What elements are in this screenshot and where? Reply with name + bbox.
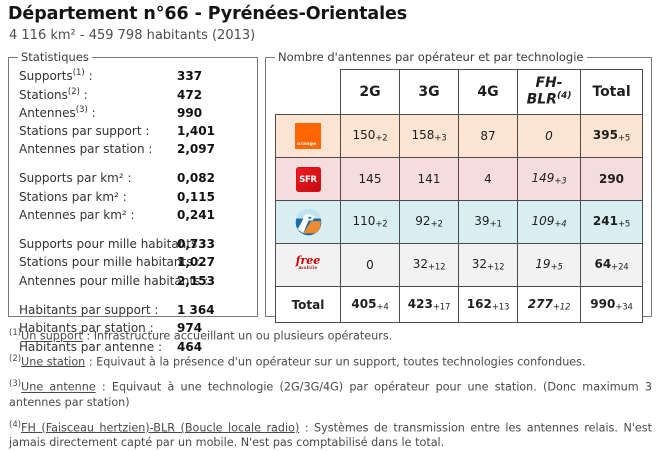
cell-free-fh: 19+5 <box>518 244 581 287</box>
stat-value: 990 <box>177 106 202 120</box>
statistics-panel: Statistiques Supports(1) :337Stations(2)… <box>8 57 258 317</box>
antenna-table: 2G3G4GFH-BLR(4)Total 150+2158+3870395+5S… <box>275 69 643 323</box>
stat-label: Supports pour mille habitants : <box>19 237 177 251</box>
cell-orange-total: 395+5 <box>581 115 643 158</box>
stat-label: Habitants par support : <box>19 303 177 317</box>
table-header-row: 2G3G4GFH-BLR(4)Total <box>276 70 643 115</box>
footnote: (3)Une antenne : Equivaut à une technolo… <box>9 377 652 410</box>
cell-total-4g: 162+13 <box>459 287 518 323</box>
stat-value: 0,241 <box>177 208 215 222</box>
table-row: SFR1451414149+3290 <box>276 158 643 201</box>
stat-spacer <box>19 161 247 171</box>
cell-delta: +4 <box>376 302 388 312</box>
cell-delta: +13 <box>492 302 509 312</box>
column-header-3g: 3G <box>400 70 459 115</box>
stat-value: 0,082 <box>177 171 215 185</box>
cell-free-total: 64+24 <box>581 244 643 287</box>
stat-label: Stations par km² : <box>19 190 177 204</box>
stat-label: Stations par support : <box>19 124 177 138</box>
cell-orange-fh: 0 <box>518 115 581 158</box>
operator-cell-orange <box>276 115 341 158</box>
orange-logo-icon <box>295 123 321 149</box>
stat-row: Stations par support :1,401 <box>19 124 247 143</box>
cell-delta: +5 <box>551 263 563 273</box>
stat-value: 1 364 <box>177 303 215 317</box>
cell-bouygues-fh: 109+4 <box>518 201 581 244</box>
stat-spacer <box>19 293 247 303</box>
sfr-logo-icon: SFR <box>296 167 321 192</box>
sfr-logo-text: SFR <box>299 174 317 184</box>
cell-bouygues-3g: 92+2 <box>400 201 459 244</box>
cell-orange-4g: 87 <box>459 115 518 158</box>
cell-delta: +2 <box>375 134 387 144</box>
cell-total-fh: 277+12 <box>518 287 581 323</box>
stat-row: Supports par km² :0,082 <box>19 171 247 190</box>
cell-delta: +12 <box>487 263 504 273</box>
footnote-marker: (4) <box>9 420 21 430</box>
column-header-2g: 2G <box>341 70 400 115</box>
free-mobile-logo-icon: freemobile <box>296 257 321 273</box>
cell-delta: +1 <box>490 220 502 230</box>
footnote: (4)FH (Faisceau hertzien)-BLR (Boucle lo… <box>9 418 652 451</box>
cell-delta: +34 <box>615 302 632 312</box>
antenna-table-panel: Nombre d'antennes par opérateur et par t… <box>265 57 652 317</box>
stat-value: 2,153 <box>177 274 215 288</box>
cell-delta: +5 <box>618 220 630 230</box>
column-footnote-ref[interactable]: (4) <box>557 91 572 101</box>
stat-label: Antennes par km² : <box>19 208 177 222</box>
footnotes: (1)Un support : Infrastructure accueilla… <box>9 326 652 451</box>
antenna-table-panel-legend: Nombre d'antennes par opérateur et par t… <box>275 50 587 64</box>
cell-sfr-4g: 4 <box>459 158 518 201</box>
stat-footnote-ref[interactable]: (2) <box>68 87 80 97</box>
footnote-term: Une station <box>21 355 85 368</box>
cell-total-2g: 405+4 <box>341 287 400 323</box>
stat-footnote-ref[interactable]: (1) <box>73 68 85 78</box>
stat-label: Stations pour mille habitants : <box>19 255 177 269</box>
stat-value: 0,733 <box>177 237 215 251</box>
cell-sfr-total: 290 <box>581 158 643 201</box>
cell-sfr-2g: 145 <box>341 158 400 201</box>
stat-row: Antennes par station :2,097 <box>19 142 247 161</box>
cell-orange-2g: 150+2 <box>341 115 400 158</box>
antenna-table-body: 150+2158+3870395+5SFR1451414149+3290110+… <box>276 115 643 287</box>
stat-label: Stations(2) : <box>19 87 177 102</box>
stat-value: 472 <box>177 88 202 102</box>
operator-cell-bouygues <box>276 201 341 244</box>
table-footer-row: Total405+4423+17162+13277+12990+34 <box>276 287 643 323</box>
cell-total-3g: 423+17 <box>400 287 459 323</box>
table-row: freemobile032+1232+1219+564+24 <box>276 244 643 287</box>
cell-free-3g: 32+12 <box>400 244 459 287</box>
cell-delta: +3 <box>434 134 446 144</box>
cell-bouygues-total: 241+5 <box>581 201 643 244</box>
column-header-4g: 4G <box>459 70 518 115</box>
stat-spacer <box>19 227 247 237</box>
stat-row: Stations(2) :472 <box>19 87 247 106</box>
cell-sfr-3g: 141 <box>400 158 459 201</box>
footnote-term: Un support <box>21 330 83 343</box>
stat-value: 337 <box>177 69 202 83</box>
stat-row: Stations pour mille habitants :1,027 <box>19 255 247 274</box>
cell-delta: +17 <box>433 302 450 312</box>
table-corner-cell <box>276 70 341 115</box>
column-header-total: Total <box>581 70 643 115</box>
stat-value: 2,097 <box>177 142 215 156</box>
cell-bouygues-4g: 39+1 <box>459 201 518 244</box>
footnote-marker: (2) <box>9 354 21 364</box>
page-subtitle: 4 116 km² - 459 798 habitants (2013) <box>9 28 255 43</box>
stat-value: 1,027 <box>177 255 215 269</box>
stat-row: Supports(1) :337 <box>19 68 247 87</box>
stat-value: 1,401 <box>177 124 215 138</box>
operator-cell-sfr: SFR <box>276 158 341 201</box>
cell-delta: +4 <box>554 220 566 230</box>
footnote-marker: (3) <box>9 379 21 389</box>
cell-delta: +12 <box>553 302 570 312</box>
cell-free-4g: 32+12 <box>459 244 518 287</box>
footnote: (2)Une station : Equivaut à la présence … <box>9 352 652 370</box>
cell-sfr-fh: 149+3 <box>518 158 581 201</box>
column-header-fh-blr: FH-BLR(4) <box>518 70 581 115</box>
antenna-table-head: 2G3G4GFH-BLR(4)Total <box>276 70 643 115</box>
stat-footnote-ref[interactable]: (3) <box>76 105 88 115</box>
cell-delta: +3 <box>554 177 566 187</box>
cell-total-total: 990+34 <box>581 287 643 323</box>
stat-label: Antennes pour mille habitants : <box>19 274 177 288</box>
cell-delta: +2 <box>375 220 387 230</box>
footnote-term: Une antenne <box>21 381 96 394</box>
stat-row: Supports pour mille habitants :0,733 <box>19 237 247 256</box>
statistics-list: Supports(1) :337Stations(2) :472Antennes… <box>19 68 247 358</box>
footnote-marker: (1) <box>9 328 21 338</box>
stat-row: Antennes(3) :990 <box>19 105 247 124</box>
footnote-term: FH (Faisceau hertzien)-BLR (Boucle local… <box>21 421 299 434</box>
cell-bouygues-2g: 110+2 <box>341 201 400 244</box>
footnote: (1)Un support : Infrastructure accueilla… <box>9 326 652 344</box>
stat-row: Habitants par support :1 364 <box>19 303 247 322</box>
stat-row: Antennes par km² :0,241 <box>19 208 247 227</box>
table-row: 110+292+239+1109+4241+5 <box>276 201 643 244</box>
operator-cell-free: freemobile <box>276 244 341 287</box>
page-title: Département n°66 - Pyrénées-Orientales <box>8 4 407 24</box>
cell-delta: +5 <box>618 134 630 144</box>
total-row-label: Total <box>276 287 341 323</box>
cell-delta: +2 <box>431 220 443 230</box>
stat-row: Stations par km² :0,115 <box>19 190 247 209</box>
cell-delta: +12 <box>428 263 445 273</box>
table-row: 150+2158+3870395+5 <box>276 115 643 158</box>
stat-label: Supports(1) : <box>19 68 177 83</box>
bouygues-logo-icon <box>295 209 322 236</box>
stat-label: Antennes par station : <box>19 142 177 156</box>
stat-row: Antennes pour mille habitants :2,153 <box>19 274 247 293</box>
free-mobile-logo-subtext: mobile <box>296 265 321 273</box>
stat-label: Antennes(3) : <box>19 105 177 120</box>
statistics-panel-legend: Statistiques <box>18 50 92 64</box>
stat-label: Supports par km² : <box>19 171 177 185</box>
stat-value: 0,115 <box>177 190 215 204</box>
cell-free-2g: 0 <box>341 244 400 287</box>
cell-delta: +24 <box>611 263 628 273</box>
antenna-table-foot: Total405+4423+17162+13277+12990+34 <box>276 287 643 323</box>
cell-orange-3g: 158+3 <box>400 115 459 158</box>
